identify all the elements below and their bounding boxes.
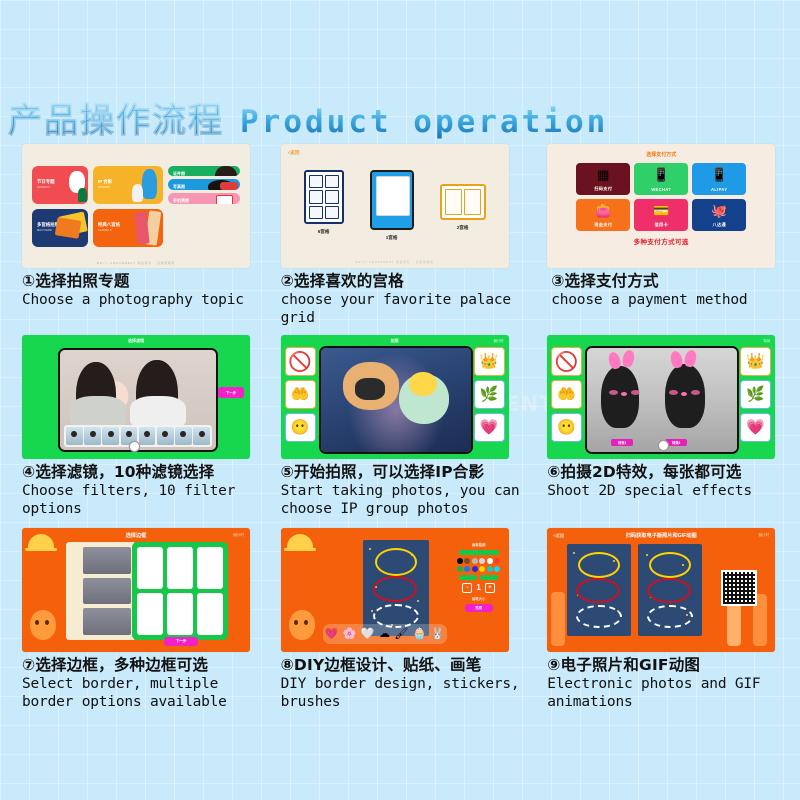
credit-card-icon: 💳 (634, 204, 688, 217)
photo-frame-oval (647, 605, 693, 628)
bunny-white-art (132, 184, 143, 202)
topic-label: 写真照 (173, 184, 185, 189)
screen-corner-label: 特效 (763, 338, 770, 343)
swatch[interactable] (487, 558, 493, 564)
leaf-sticker-icon[interactable]: 🌿 (740, 380, 771, 409)
screen-footer: MEIYI AMUSEMENT 版权所有 · 自助照相机 (281, 260, 509, 264)
sun-decoration (287, 534, 313, 548)
border-option[interactable] (167, 593, 193, 635)
photo-frame-oval (576, 605, 622, 628)
crown-sticker-icon[interactable]: 👑 (474, 347, 505, 376)
photo-frame-oval (373, 576, 417, 602)
swatch[interactable] (494, 558, 500, 564)
sticker-toolbar[interactable]: 💗 🌸 🤍 ☁ 🖌 🧁 🐰 (323, 624, 447, 644)
finish-button[interactable]: 完成 (465, 604, 493, 612)
topic-card-ip[interactable]: IP 合影IP PHOTO (93, 166, 163, 204)
step-caption-3: ③选择支付方式 choose a payment method (547, 272, 799, 309)
topic-card-classic8[interactable]: 经典八宫格CLASSIC 8 (93, 209, 163, 247)
grid-label: 2宫格 (457, 225, 469, 231)
photo-frame-oval (647, 578, 691, 603)
person-decoration (551, 592, 565, 646)
caption-cn: ⑤开始拍照，可以选择IP合影 (281, 463, 533, 482)
topic-card-phonecase[interactable]: 手机壳照 (168, 193, 240, 204)
caption-en: Start taking photos, you can choose IP g… (281, 482, 533, 518)
photo-frame-oval (576, 578, 620, 603)
screenshot-ip-photo[interactable]: 拍照 倒计时 🚫 🤲 😶 (281, 335, 509, 459)
topic-label: 经典八宫格 (98, 222, 120, 227)
screenshot-border-select[interactable]: 选择边框 倒计时 下一步 (22, 528, 250, 652)
bunny-art (142, 169, 157, 199)
grid-label: 6宫格 (318, 229, 330, 235)
payment-option-wechat[interactable]: 📱WECHAT (634, 163, 688, 195)
body-art (130, 396, 186, 426)
next-button[interactable]: 下一步 (164, 637, 198, 646)
topic-label: IP 合影 (98, 179, 112, 184)
flower-sticker[interactable]: 🌸 (343, 629, 357, 640)
strip8-art-2 (134, 211, 149, 244)
screen-footer: MEIYI AMUSEMENT 版权所有 · 自助照相机 (22, 261, 250, 265)
border-option[interactable] (197, 593, 223, 635)
screen-corner-label: 倒计时 (758, 533, 769, 538)
swatch[interactable] (479, 558, 485, 564)
swatch[interactable] (494, 566, 500, 572)
caption-cn: ⑧DIY边框设计、贴纸、画笔 (281, 656, 533, 675)
ip-character-2-hair (409, 372, 437, 396)
swatch[interactable] (464, 566, 470, 572)
steps-row-3: 选择边框 倒计时 下一步 ⑦选择边框，多种边框可选 (0, 528, 800, 711)
qr-icon: ▦ (576, 168, 630, 181)
grid-label: 1宫格 (386, 235, 398, 241)
phone-art (216, 195, 233, 204)
bunny-sticker[interactable]: 🐰 (431, 629, 445, 640)
topic-sublabel: CLASSIC 8 (98, 228, 120, 234)
hair-art (601, 366, 639, 428)
hands-sticker-icon[interactable]: 🤲 (551, 380, 582, 409)
leaf-sticker-icon[interactable]: 🌿 (474, 380, 505, 409)
heart-sticker[interactable]: 🤍 (361, 629, 375, 640)
next-button[interactable]: 下一步 (218, 387, 244, 398)
preview-photo (83, 547, 131, 574)
caption-en: Choose a photography topic (22, 291, 274, 309)
step-caption-4: ④选择滤镜，10种滤镜选择 Choose filters, 10 filter … (22, 463, 274, 518)
filter-preview (58, 348, 218, 452)
sticker-panel-right[interactable]: 👑 🌿 💗 (474, 347, 505, 442)
no-effect-icon[interactable]: 🚫 (551, 347, 582, 376)
border-option[interactable] (197, 547, 223, 589)
payment-label: WECHAT (651, 187, 671, 192)
screen-corner-label: 倒计时 (493, 338, 503, 343)
swatch[interactable] (479, 566, 485, 572)
swatch[interactable] (487, 566, 493, 572)
payment-option-octopus[interactable]: 🐙八达通 (692, 199, 746, 231)
step-card-8: 💗 🌸 🤍 ☁ 🖌 🧁 🐰 画笔粗细 (279, 528, 538, 711)
topic-label: 证件照 (173, 171, 185, 176)
step-caption-1: ①选择拍照专题 Choose a photography topic (22, 272, 274, 309)
payment-note: 多种支付方式可选 (634, 236, 689, 246)
topic-card-holiday[interactable]: 节日专题HOLIDAYS (32, 166, 88, 204)
filter-thumb[interactable] (139, 427, 156, 445)
screen-corner-label: 倒计时 (233, 533, 244, 538)
filter-thumb[interactable] (66, 427, 83, 445)
steps-grid: 节日专题HOLIDAYS IP 合影IP PHOTO 证件照 (0, 144, 800, 711)
heart-sticker-icon[interactable]: 💗 (474, 413, 505, 442)
caption-en: Shoot 2D special effects (547, 482, 799, 500)
no-effect-icon[interactable]: 🚫 (285, 347, 316, 376)
topic-card-id[interactable]: 证件照 (168, 166, 240, 177)
face-sticker-icon[interactable]: 😶 (551, 413, 582, 442)
caption-en: Choose filters, 10 filter options (22, 482, 274, 518)
caption-en: Select border, multiple border options a… (22, 675, 274, 711)
grid-option-1[interactable]: 1宫格 (370, 170, 414, 241)
caption-en: Electronic photos and GIF animations (547, 675, 799, 711)
page-title-cn: 产品操作流程 (8, 93, 224, 142)
caption-cn: ①选择拍照专题 (22, 272, 274, 291)
screen-title: 扫码获取电子版照片和GIF动图 (547, 532, 775, 539)
result-photo[interactable] (638, 544, 702, 636)
step-card-7: 选择边框 倒计时 下一步 ⑦选择边框，多种边框可选 (0, 528, 279, 711)
topic-sublabel: IP PHOTO (98, 185, 112, 191)
caption-cn: ④选择滤镜，10种滤镜选择 (22, 463, 274, 482)
swatch[interactable] (457, 566, 463, 572)
step-card-2: <返回 6宫格 1宫格 (279, 144, 538, 327)
screenshot-palace-grid[interactable]: <返回 6宫格 1宫格 (281, 144, 509, 268)
screenshot-filters[interactable]: 选择滤镜 下一步 (22, 335, 250, 459)
border-option[interactable] (167, 547, 193, 589)
payment-option-card[interactable]: 💳信用卡 (634, 199, 688, 231)
crown-sticker-icon[interactable]: 👑 (740, 347, 771, 376)
face-sticker-icon[interactable]: 😶 (285, 413, 316, 442)
screen-title: 选择边框 (22, 532, 250, 539)
caption-cn: ⑦选择边框，多种边框可选 (22, 656, 274, 675)
diy-right-pane: 画笔粗细 (455, 542, 503, 612)
quantity-stepper[interactable]: - 1 + (462, 583, 494, 593)
step-card-9: <返回 扫码获取电子版照片和GIF动图 倒计时 (537, 528, 800, 711)
page-title: 产品操作流程 Product operation (8, 93, 608, 137)
topic-label: 手机壳照 (173, 198, 189, 203)
swatch[interactable] (472, 558, 478, 564)
grid-option-2[interactable]: 2宫格 (440, 170, 486, 231)
preview-photo (83, 608, 131, 635)
step-card-1: 节日专题HOLIDAYS IP 合影IP PHOTO 证件照 (0, 144, 279, 327)
filter-thumb[interactable] (193, 427, 210, 445)
step-card-4: 选择滤镜 下一步 ④选择滤镜，10种滤镜选择 (0, 335, 279, 518)
stepper-label: 画笔大小 (472, 596, 486, 601)
phone-icon: 📱 (634, 168, 688, 181)
filter-thumb[interactable] (102, 427, 119, 445)
topic-card-multigrid[interactable]: 多宫格拍照MULTI GRID (32, 209, 88, 247)
portrait-art-2 (220, 182, 238, 190)
sticker-panel-left[interactable]: 🚫 🤲 😶 (285, 347, 316, 442)
person-art (215, 166, 237, 177)
cupcake-sticker[interactable]: 🧁 (413, 629, 427, 640)
page-title-en: Product operation (240, 104, 608, 140)
palette-title: 画笔粗细 (472, 542, 486, 547)
octopus-icon: 🐙 (692, 204, 746, 217)
payment-label: 现金支付 (594, 222, 612, 228)
tree-art (78, 188, 87, 202)
swatch[interactable] (472, 566, 478, 572)
step-card-5: 拍照 倒计时 🚫 🤲 😶 (279, 335, 538, 518)
brush-buttons[interactable] (459, 575, 498, 580)
back-button[interactable]: <返回 (288, 150, 300, 156)
stepper-value: 1 (476, 583, 480, 592)
border-option[interactable] (137, 593, 163, 635)
effect-tag-right[interactable]: 特效2 (665, 439, 687, 446)
steps-row-2: 选择滤镜 下一步 ④选择滤镜，10种滤镜选择 (0, 335, 800, 518)
photo-frame-oval (375, 548, 417, 576)
topic-label: 节日专题 (37, 179, 55, 184)
effects-preview: 特效1 特效2 (585, 346, 739, 454)
payment-label: 扫码支付 (594, 186, 612, 192)
strip-art-2 (55, 217, 82, 239)
caption-en: choose your favorite palace grid (281, 291, 533, 327)
border-options-grid[interactable] (132, 542, 228, 640)
screenshot-2d-effects[interactable]: 特效 (547, 335, 775, 459)
grid-6-thumb (304, 170, 344, 224)
caption-cn: ⑨电子照片和GIF动图 (547, 656, 799, 675)
brush-size-bar[interactable] (459, 550, 499, 555)
wallet-icon: 👛 (576, 204, 630, 217)
heart-sticker-icon[interactable]: 💗 (740, 413, 771, 442)
topic-card-portrait[interactable]: 写真照 (168, 179, 240, 190)
ip-preview (319, 346, 473, 454)
screen-title: 拍照 (281, 338, 509, 344)
payment-option-alipay[interactable]: 📱ALIPAY (692, 163, 746, 195)
color-swatches[interactable] (457, 558, 501, 572)
diy-canvas[interactable] (363, 540, 429, 636)
photo-frame-oval (649, 552, 691, 578)
step-caption-2: ②选择喜欢的宫格 choose your favorite palace gri… (281, 272, 533, 327)
ip-character-1-detail (355, 378, 385, 400)
qr-code[interactable] (721, 570, 757, 606)
border-preview (66, 542, 136, 640)
hair-art (665, 364, 705, 428)
filter-thumb[interactable] (175, 427, 192, 445)
mascot-decoration (30, 610, 56, 640)
step-caption-9: ⑨电子照片和GIF动图 Electronic photos and GIF an… (547, 656, 799, 711)
effect-tag-left[interactable]: 特效1 (611, 439, 633, 446)
step-card-3: 选择支付方式 ▦扫码支付 📱WECHAT 📱ALIPAY 👛现金支付 💳信用卡 … (537, 144, 800, 327)
photo-frame-oval (578, 552, 620, 578)
caption-en: choose a payment method (547, 291, 799, 309)
hands-sticker-icon[interactable]: 🤲 (285, 380, 316, 409)
payment-title: 选择支付方式 (646, 151, 676, 158)
body-art (70, 396, 126, 426)
grid-1-thumb (370, 170, 414, 230)
steps-row-1: 节日专题HOLIDAYS IP 合影IP PHOTO 证件照 (0, 144, 800, 327)
filter-thumb[interactable] (157, 427, 174, 445)
brush-btn[interactable] (459, 575, 477, 580)
filter-thumb[interactable] (84, 427, 101, 445)
border-option[interactable] (137, 547, 163, 589)
brush-tool[interactable]: 🖌 (394, 629, 408, 640)
screenshot-topic-chooser[interactable]: 节日专题HOLIDAYS IP 合影IP PHOTO 证件照 (22, 144, 250, 268)
swatch[interactable] (464, 558, 470, 564)
caption-cn: ⑥拍摄2D特效，每张都可选 (547, 463, 799, 482)
brush-btn[interactable] (480, 575, 498, 580)
result-photos (567, 544, 702, 636)
payment-label: 八达通 (712, 222, 725, 228)
caption-cn: ②选择喜欢的宫格 (281, 272, 533, 291)
screenshot-diy-editor[interactable]: 💗 🌸 🤍 ☁ 🖌 🧁 🐰 画笔粗细 (281, 528, 509, 652)
screenshot-qr-download[interactable]: <返回 扫码获取电子版照片和GIF动图 倒计时 (547, 528, 775, 652)
payment-label: 信用卡 (654, 222, 667, 228)
phone-icon: 📱 (692, 168, 746, 181)
step-card-6: 特效 (537, 335, 800, 518)
swatch[interactable] (457, 558, 463, 564)
step-caption-5: ⑤开始拍照，可以选择IP合影 Start taking photos, you … (281, 463, 533, 518)
payment-label: ALIPAY (711, 187, 727, 192)
step-caption-6: ⑥拍摄2D特效，每张都可选 Shoot 2D special effects (547, 463, 799, 500)
step-caption-7: ⑦选择边框，多种边框可选 Select border, multiple bor… (22, 656, 274, 711)
screenshot-payment[interactable]: 选择支付方式 ▦扫码支付 📱WECHAT 📱ALIPAY 👛现金支付 💳信用卡 … (547, 144, 775, 268)
payment-option-cash[interactable]: 👛现金支付 (576, 199, 630, 231)
sticker-panel-right[interactable]: 👑 🌿 💗 (740, 347, 771, 442)
grid-option-6[interactable]: 6宫格 (304, 170, 344, 235)
payment-option-qr[interactable]: ▦扫码支付 (576, 163, 630, 195)
grid-2-thumb (440, 184, 486, 220)
heart-sticker[interactable]: 💗 (325, 629, 339, 640)
topic-sublabel: HOLIDAYS (37, 185, 55, 191)
screen-title: 选择滤镜 (22, 338, 250, 344)
stepper-plus[interactable]: + (485, 583, 495, 593)
stepper-minus[interactable]: - (462, 583, 472, 593)
step-caption-8: ⑧DIY边框设计、贴纸、画笔 DIY border design, sticke… (281, 656, 533, 711)
ip-scene (321, 348, 471, 452)
caption-cn: ③选择支付方式 (547, 272, 799, 291)
preview-photo (83, 578, 131, 605)
cloud-sticker[interactable]: ☁ (379, 629, 390, 640)
result-photo[interactable] (567, 544, 631, 636)
cursor-pointer (130, 442, 139, 451)
mascot-decoration (289, 610, 315, 640)
sticker-panel-left[interactable]: 🚫 🤲 😶 (551, 347, 582, 442)
caption-en: DIY border design, stickers, brushes (281, 675, 533, 711)
